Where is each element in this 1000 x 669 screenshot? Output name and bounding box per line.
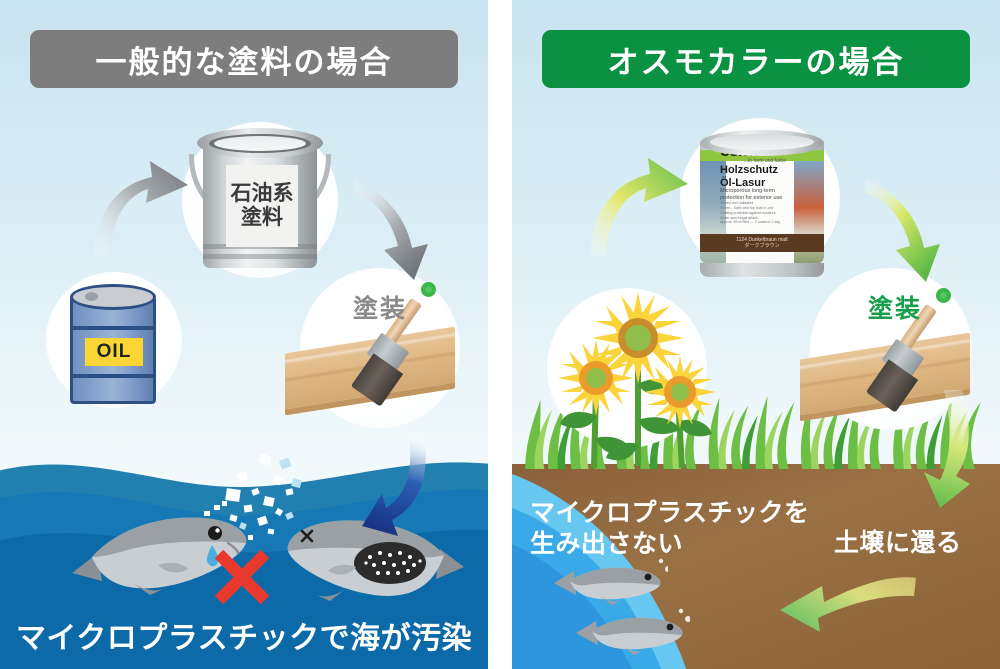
osmo-color-band: 1124 Dunkelbraun matt ダークブラウン [700,234,824,252]
oil-drum-cap [85,292,98,301]
arrow-board-to-sea [358,432,458,552]
osmo-subtitle: Microporous long-term protection for ext… [720,188,786,202]
arrow-board-to-soil [922,390,992,515]
osmo-product-name: Holzschutz Öl-Lasur [720,164,786,189]
osmo-subtitle-line1: Microporous long-term [720,188,786,195]
osmo-can-base [700,263,824,277]
paint-can-label: 石油系 塗料 [226,165,298,247]
arrow-drum-to-can [88,155,198,260]
sunflower-head-left [558,340,634,416]
right-header-banner: オスモカラーの場合 [542,30,970,88]
osmo-fine-line5: Approx. 26 m²/litre — 2 coats in 1 day [720,220,786,225]
paint-can-rim-inner-light [214,136,306,151]
oil-drum-label: OIL [85,338,143,366]
brush-hanger-icon-right [936,288,951,303]
osmo-paint-can: 1124 Dunkelbraun matt ダークブラウン osmo ...in… [692,112,832,277]
oil-drum-ring-lower [70,374,156,378]
oil-drum-ring-upper [70,326,156,330]
osmo-product-line1: Holzschutz [720,164,786,177]
osmo-color-name-jp: ダークブラウン [744,243,779,249]
osmo-can-lid-inner [710,134,814,150]
arrow-can-to-board [348,172,458,282]
painting-label-right: 塗装 [868,289,922,325]
brush-hanger-icon [421,282,436,297]
sunflower-illustration [532,280,732,470]
arrow-soil-to-river [760,572,920,642]
ground-caption-left-line2: 生み出さない [530,529,810,560]
left-header-banner: 一般的な塗料の場合 [30,30,458,88]
fish-small-upper [548,557,668,607]
sunflower-head-right [644,356,716,428]
ground-caption-left: マイクロプラスチックを 生み出さない [530,498,810,559]
ground-caption-left-line1: マイクロプラスチックを [530,498,810,529]
right-panel: 1124 Dunkelbraun matt ダークブラウン osmo ...in… [512,0,1000,669]
cross-mark-icon [210,545,274,609]
arrow-sunflower-to-can [584,152,699,262]
painting-label-left: 塗装 [353,289,407,325]
infographic-root: マイクロプラスチックで海が汚染 OIL 石油系 塗料 [0,0,1000,669]
wood-board-left [285,312,475,422]
osmo-fine-print: Tested and Validated Sheen - Satin and t… [720,201,786,225]
ground-caption-right: 土壌に還る [834,528,962,559]
paint-can-label-line2: 塗料 [241,206,283,230]
paint-can-label-line1: 石油系 [231,182,294,206]
paint-can-band-2 [203,254,317,259]
oil-drum: OIL [60,282,168,412]
oil-drum-top [70,284,156,310]
petroleum-paint-can: 石油系 塗料 [185,118,335,278]
arrow-osmo-to-board [860,172,970,284]
left-panel: マイクロプラスチックで海が汚染 OIL 石油系 塗料 [0,0,488,669]
sea-caption: マイクロプラスチックで海が汚染 [0,613,488,657]
fish-small-lower [570,607,690,657]
